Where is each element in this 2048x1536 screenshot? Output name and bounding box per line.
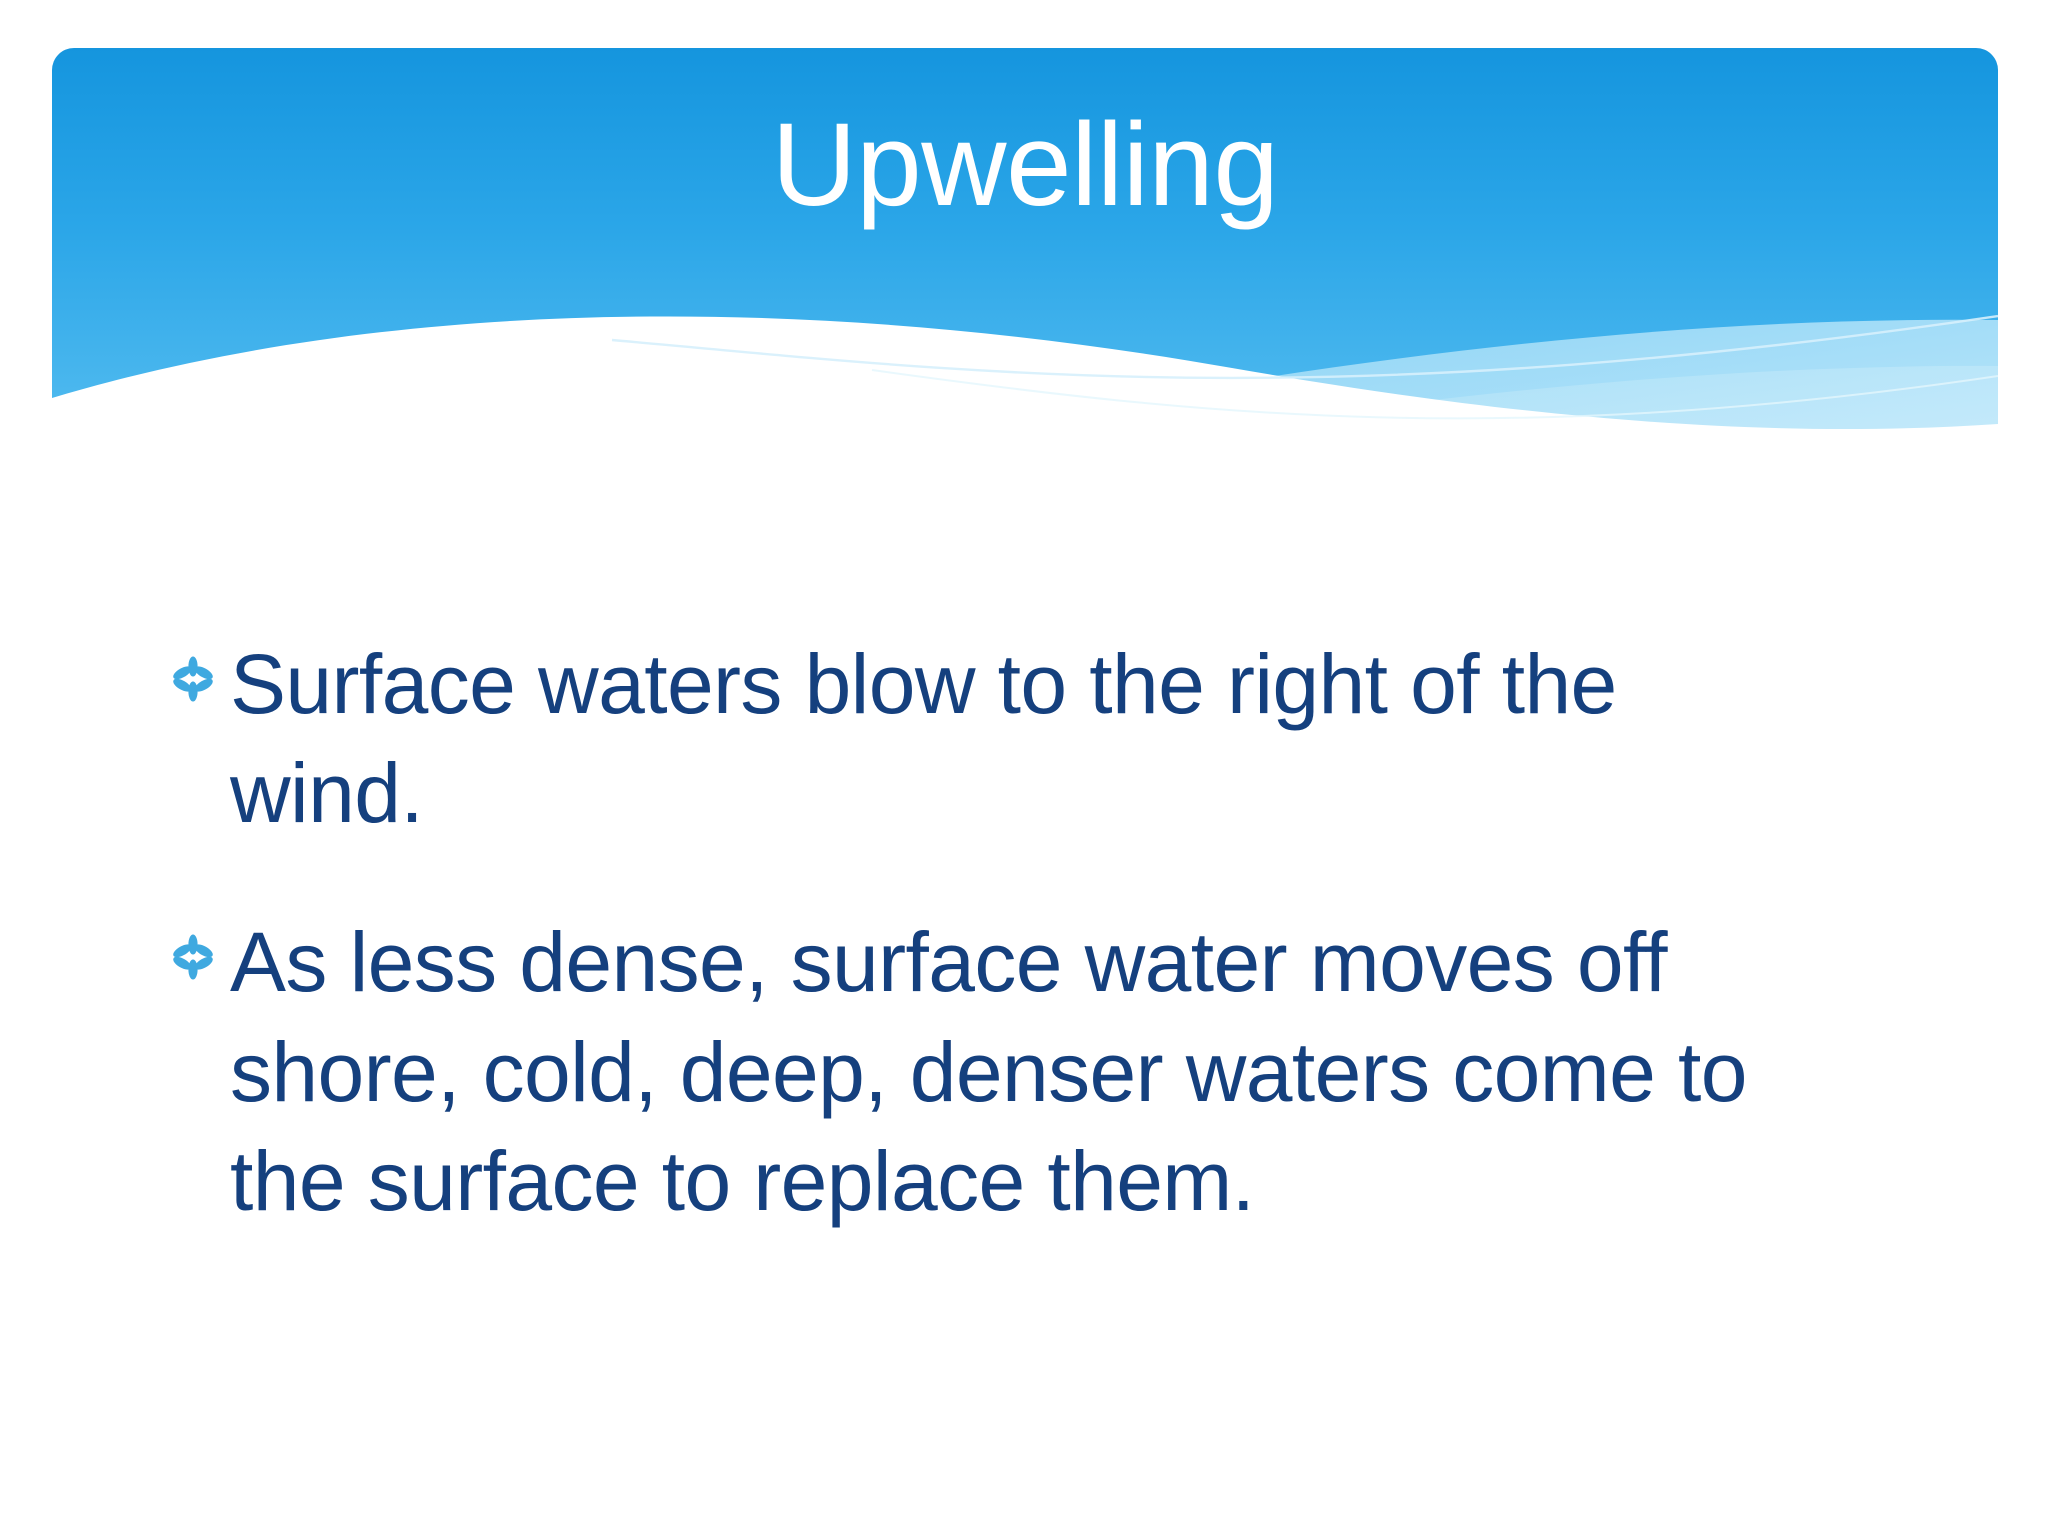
asterisk-flower-icon	[170, 656, 216, 702]
bullet-text: Surface waters blow to the right of the …	[230, 630, 1690, 848]
presentation-slide: Upwelling Surface waters blow to the rig…	[0, 0, 2048, 1536]
slide-title: Upwelling	[52, 104, 1998, 228]
slide-body-content: Surface waters blow to the right of the …	[170, 630, 1900, 1236]
bullet-text: As less dense, surface water moves off s…	[230, 908, 1860, 1236]
bullet-item: Surface waters blow to the right of the …	[170, 630, 1900, 848]
bullet-item: As less dense, surface water moves off s…	[170, 908, 1900, 1236]
asterisk-flower-icon	[170, 934, 216, 980]
